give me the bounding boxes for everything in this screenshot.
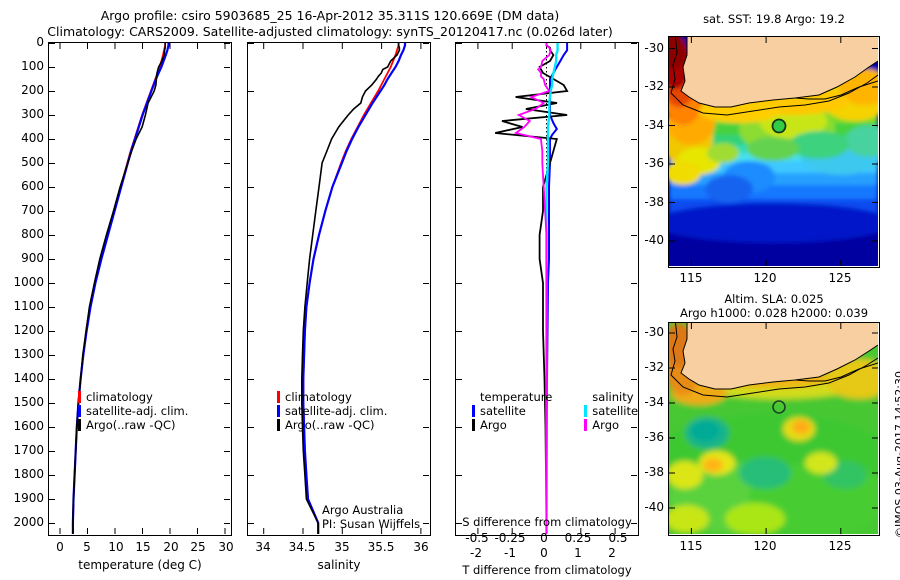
argo-swatch [78,419,81,431]
legend-item: climatology [78,390,188,404]
satellite-adj-swatch [277,405,280,417]
legend-label: Argo [592,418,619,432]
temperature-difference-argo-line [495,43,567,534]
legend-label: satellite-adj. clim. [86,404,188,418]
legend-group-label: temperature [472,390,552,404]
temperature-climatology-line [73,43,165,534]
annotation-line2: PI: Susan Wijffels [322,517,420,531]
legend-label: Argo(..raw -QC) [285,418,375,432]
sla-map-title-line2: Argo h1000: 0.028 h2000: 0.039 [655,306,893,320]
legend-item: Argo(..raw -QC) [78,418,188,432]
copyright-text: ©IMOS 03-Aug-2017 14:52:30 [893,371,900,538]
sst-map [669,37,878,266]
temperature-plot [49,43,230,534]
sla-map-title-line1: Altim. SLA: 0.025 [660,292,888,306]
temperature-xaxis-label: temperature (deg C) [48,558,232,572]
legend-item: satellite-adj. clim. [277,404,387,418]
temperature-argo-line [73,43,165,534]
float-position-marker [773,120,786,133]
difference-t-axis-label: T difference from climatology [451,563,643,577]
chart-title-line2: Climatology: CARS2009. Satellite-adjuste… [0,24,660,39]
difference-panel [455,42,639,536]
temperature-argo-swatch [472,419,475,431]
argo-swatch [277,419,280,431]
legend-label: satellite [480,404,526,418]
legend-item: climatology [277,390,387,404]
legend-item: satellite-adj. clim. [78,404,188,418]
salinity-legend: climatology satellite-adj. clim. Argo(..… [277,390,387,432]
salinity-argo-line [302,43,400,534]
annotation-line1: Argo Australia [322,503,420,517]
salinity-satellite-swatch [584,405,587,417]
temperature-satellite-adj-line [73,43,169,534]
argo-australia-annotation: Argo Australia PI: Susan Wijffels [322,503,420,531]
legend-label: climatology [86,390,153,404]
salinity-satellite-adj-line [303,43,405,534]
legend-label: climatology [285,390,352,404]
legend-label: Argo [480,418,507,432]
satellite-adj-swatch [78,405,81,417]
legend-label: Argo(..raw -QC) [86,418,176,432]
sst-map-title: sat. SST: 19.8 Argo: 19.2 [660,12,888,26]
salinity-xticks-inner [264,43,421,534]
legend-item: Argo [472,418,552,432]
salinity-panel [247,42,431,536]
climatology-swatch [277,391,280,403]
temperature-legend: climatology satellite-adj. clim. Argo(..… [78,390,188,432]
legend-label: satellite-adj. clim. [285,404,387,418]
climatology-swatch [78,391,81,403]
salinity-xaxis-label: salinity [247,558,431,572]
salinity-plot [248,43,429,534]
chart-title-line1: Argo profile: csiro 5903685_25 16-Apr-20… [0,8,660,23]
temperature-panel [48,42,232,536]
difference-plot [456,43,637,534]
legend-item: Argo(..raw -QC) [277,418,387,432]
salinity-argo-swatch [584,419,587,431]
legend-item: satellite [472,404,552,418]
sst-map-panel [668,36,880,268]
difference-legend-temperature-column: temperature satellite Argo [472,390,552,432]
salinity-climatology-line [303,43,398,534]
sla-map-panel [668,322,880,536]
sla-map [669,323,878,534]
temperature-satellite-swatch [472,405,475,417]
difference-legend: temperature satellite Argo salinity sate… [472,390,638,432]
difference-s-axis-label: S difference from climatology [455,515,639,529]
salinity-yticks-inner [248,44,429,524]
